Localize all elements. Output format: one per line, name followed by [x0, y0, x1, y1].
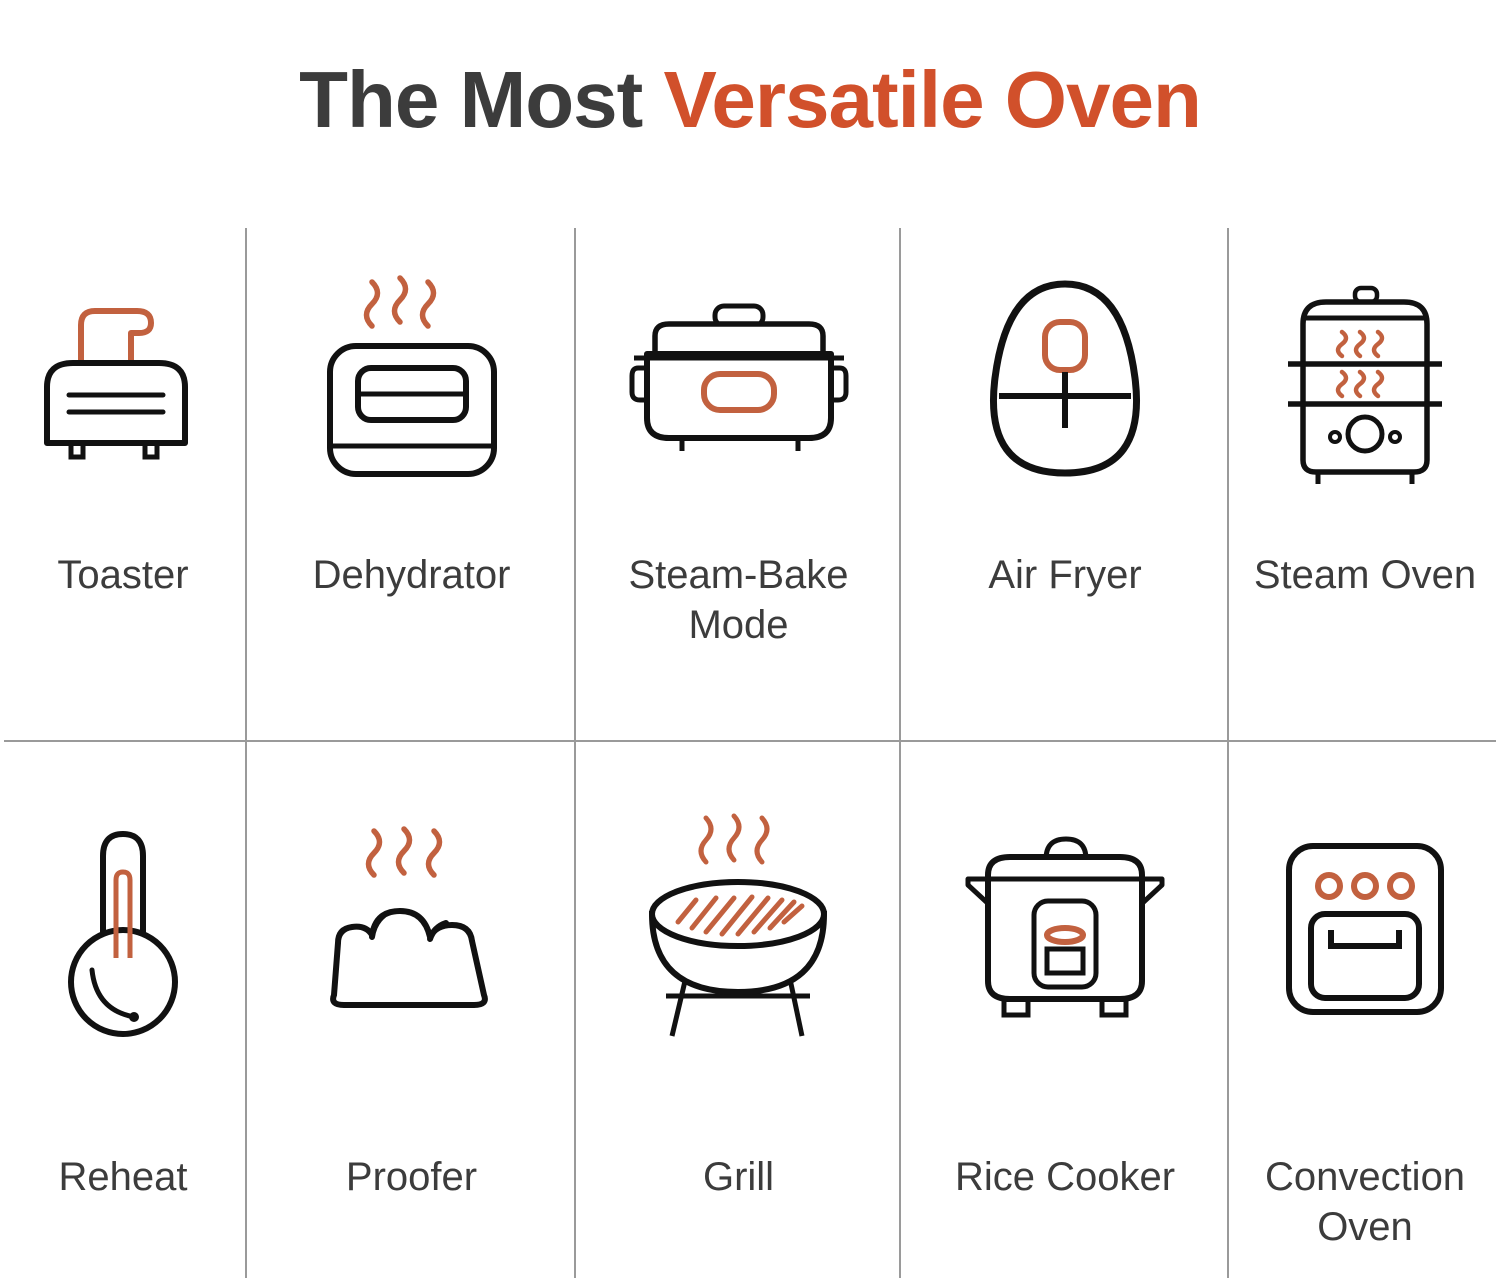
- page-title-accent-text: Versatile Oven: [663, 55, 1200, 144]
- infographic-page: The Most Versatile Oven Toaster: [0, 0, 1500, 1278]
- page-title: The Most Versatile Oven: [0, 52, 1500, 148]
- grid-divider-horizontal: [4, 740, 1496, 742]
- rice-cooker-icon: [958, 823, 1173, 1038]
- feature-label-reheat: Reheat: [59, 1152, 188, 1202]
- feature-cell-rice-cooker: Rice Cooker: [902, 800, 1228, 1278]
- feature-label-air-fryer: Air Fryer: [988, 550, 1141, 600]
- feature-label-steam-oven: Steam Oven: [1254, 550, 1476, 600]
- roaster-pan-icon: [614, 288, 864, 478]
- feature-label-steam-bake-mode: Steam-Bake Mode: [577, 550, 900, 650]
- steam-oven-icon-container: [1270, 238, 1460, 528]
- feature-cell-grill: Grill: [577, 800, 900, 1278]
- feature-cell-proofer: Proofer: [248, 800, 575, 1278]
- convection-oven-icon-container: [1275, 800, 1455, 1060]
- toaster-icon-container: [33, 238, 213, 528]
- feature-cell-toaster: Toaster: [0, 238, 246, 718]
- toaster-icon: [33, 273, 213, 493]
- dehydrator-icon-container: [312, 238, 512, 528]
- steam-oven-icon: [1270, 276, 1460, 491]
- grill-icon: [634, 810, 844, 1050]
- feature-cell-dehydrator: Dehydrator: [248, 238, 575, 718]
- bread-loaf-icon-container: [312, 800, 512, 1060]
- page-title-dark-text: The Most: [299, 55, 663, 144]
- feature-label-dehydrator: Dehydrator: [313, 550, 511, 600]
- roaster-pan-icon-container: [614, 238, 864, 528]
- thermometer-icon: [48, 810, 198, 1050]
- air-fryer-icon-container: [975, 238, 1155, 528]
- grill-icon-container: [634, 800, 844, 1060]
- convection-oven-icon: [1275, 830, 1455, 1030]
- feature-cell-reheat: Reheat: [0, 800, 246, 1278]
- thermometer-icon-container: [48, 800, 198, 1060]
- feature-cell-steam-bake-mode: Steam-Bake Mode: [577, 238, 900, 718]
- feature-label-proofer: Proofer: [346, 1152, 477, 1202]
- air-fryer-icon: [975, 268, 1155, 498]
- feature-label-toaster: Toaster: [57, 550, 188, 600]
- feature-label-convection-oven: Convection Oven: [1230, 1152, 1500, 1252]
- feature-cell-convection-oven: Convection Oven: [1230, 800, 1500, 1278]
- feature-cell-air-fryer: Air Fryer: [902, 238, 1228, 718]
- rice-cooker-icon-container: [958, 800, 1173, 1060]
- feature-label-rice-cooker: Rice Cooker: [955, 1152, 1175, 1202]
- bread-loaf-icon: [312, 815, 512, 1045]
- feature-label-grill: Grill: [703, 1152, 774, 1202]
- dehydrator-icon: [312, 268, 512, 498]
- feature-cell-steam-oven: Steam Oven: [1230, 238, 1500, 718]
